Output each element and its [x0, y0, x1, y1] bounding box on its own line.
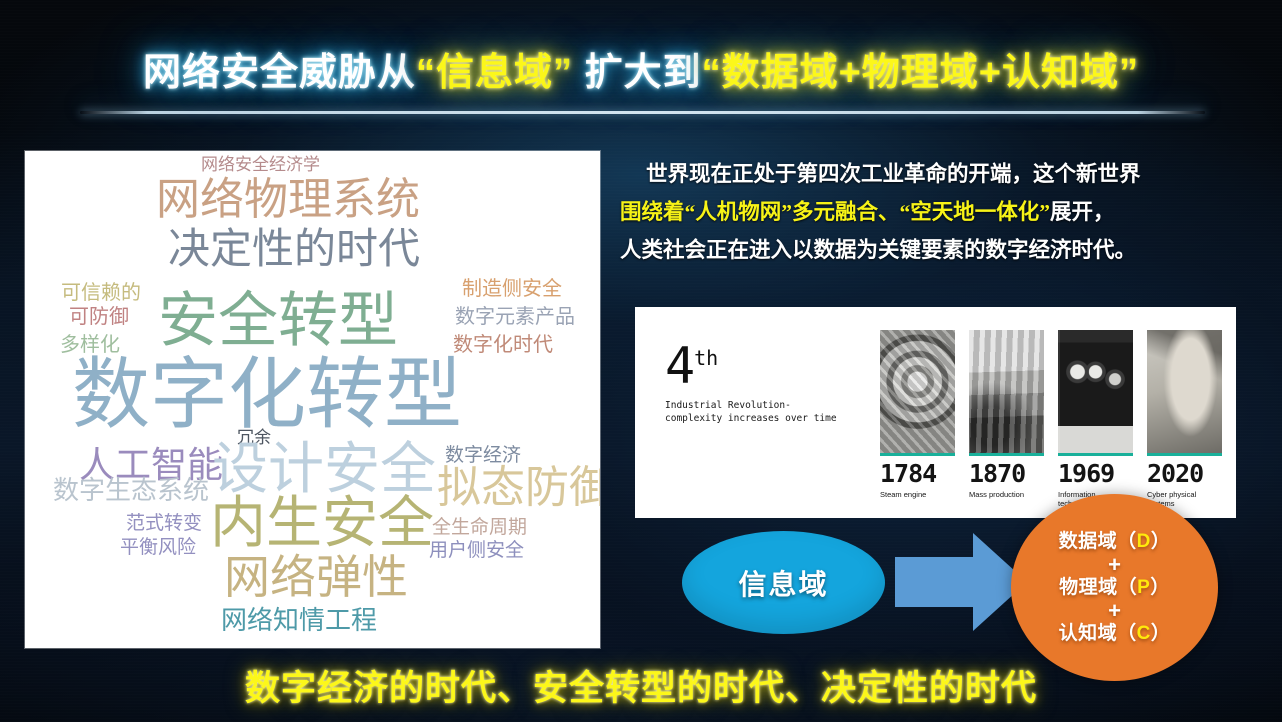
- word-cloud-term: 设计安全: [212, 442, 436, 498]
- logo-ordinal-suffix: th: [694, 346, 718, 370]
- paragraph-line-2-tail: 展开，: [1050, 200, 1115, 224]
- word-cloud-term: 数字化转型: [72, 356, 462, 434]
- domain-row-physical: 物理域（P）: [1059, 576, 1170, 600]
- word-cloud-term: 数字生态系统: [53, 477, 209, 503]
- mainframe-computer-photo: [1058, 330, 1133, 456]
- title-segment-2: “信息域”: [416, 52, 573, 94]
- word-cloud-term: 网络弹性: [224, 555, 408, 601]
- paragraph-line-2: 围绕着“人机物网”多元融合、“空天地一体化”展开，: [620, 193, 1275, 231]
- word-cloud-image: 网络安全经济学网络物理系统决定性的时代可信赖的制造侧安全可防御数字元素产品安全转…: [25, 151, 600, 648]
- humanoid-robot-photo: [1147, 330, 1222, 456]
- logo-caption-line-1: Industrial Revolution-: [665, 399, 880, 412]
- word-cloud-term: 网络物理系统: [156, 178, 420, 222]
- domain-key-c: C: [1137, 623, 1151, 644]
- logo-number: 4th: [665, 335, 880, 389]
- word-cloud-term: 数字化时代: [453, 335, 553, 355]
- revolution-item: 1784Steam engine: [880, 330, 955, 508]
- word-cloud-term: 网络知情工程: [221, 607, 377, 633]
- word-cloud-term: 可信赖的: [61, 283, 141, 303]
- word-cloud-term: 决定性的时代: [168, 229, 420, 271]
- information-domain-node[interactable]: 信息域: [682, 531, 885, 634]
- word-cloud-term: 安全转型: [158, 291, 398, 351]
- revolution-item: 2020Cyber physical systems: [1147, 330, 1222, 508]
- slide-canvas: 网络安全威胁从“信息域” 扩大到“数据域+物理域+认知域” 网络安全经济学网络物…: [0, 0, 1282, 722]
- revolution-year: 1784: [880, 461, 955, 487]
- steam-engine-photo: [880, 330, 955, 456]
- body-paragraph: 世界现在正处于第四次工业革命的开端，这个新世界 围绕着“人机物网”多元融合、“空…: [620, 155, 1275, 269]
- plus-sign-1: +: [1108, 555, 1121, 575]
- word-cloud-term: 拟态防御: [437, 466, 600, 510]
- dpc-domain-node[interactable]: 数据域（D） + 物理域（P） + 认知域（C）: [1011, 494, 1218, 681]
- title-segment-1: 网络安全威胁从: [143, 52, 416, 94]
- title-segment-4: “数据域+物理域+认知域”: [702, 52, 1139, 94]
- paragraph-line-1: 世界现在正处于第四次工业革命的开端，这个新世界: [620, 155, 1275, 193]
- word-cloud-term: 内生安全: [210, 496, 434, 552]
- word-cloud-term: 网络安全经济学: [201, 156, 320, 173]
- mass-production-photo: [969, 330, 1044, 456]
- title-divider: [80, 111, 1205, 114]
- revolution-item: 1870Mass production: [969, 330, 1044, 508]
- domain-row-data: 数据域（D）: [1059, 530, 1171, 554]
- page-title: 网络安全威胁从“信息域” 扩大到“数据域+物理域+认知域”: [0, 44, 1282, 102]
- domain-row-cognitive: 认知域（C）: [1059, 622, 1171, 646]
- domain-key-p: P: [1137, 577, 1150, 598]
- paragraph-highlight: 围绕着“人机物网”多元融合、“空天地一体化”: [620, 200, 1050, 224]
- logo-caption: Industrial Revolution- complexity increa…: [665, 399, 880, 425]
- domain-key-d: D: [1137, 531, 1151, 552]
- revolution-item: 1969Information technology: [1058, 330, 1133, 508]
- industrial-revolution-image: 4th Industrial Revolution- complexity in…: [635, 307, 1236, 518]
- revolution-label: Mass production: [969, 490, 1044, 499]
- word-cloud-term: 平衡风险: [120, 538, 196, 557]
- revolution-label: Steam engine: [880, 490, 955, 499]
- word-cloud-term: 全生命周期: [432, 518, 527, 537]
- flow-arrow-icon: [895, 533, 1027, 631]
- logo-caption-line-2: complexity increases over time: [665, 412, 880, 425]
- revolution-year: 2020: [1147, 461, 1222, 487]
- information-domain-label: 信息域: [738, 563, 828, 603]
- title-segment-3: 扩大到: [573, 52, 702, 94]
- paragraph-line-3: 人类社会正在进入以数据为关键要素的数字经济时代。: [620, 231, 1275, 269]
- revolution-timeline: 1784Steam engine1870Mass production1969I…: [880, 330, 1225, 508]
- fourth-revolution-logo: 4th Industrial Revolution- complexity in…: [665, 335, 880, 425]
- revolution-year: 1870: [969, 461, 1044, 487]
- plus-sign-2: +: [1108, 601, 1121, 621]
- word-cloud-term: 制造侧安全: [462, 279, 562, 299]
- word-cloud-term: 范式转变: [126, 514, 202, 533]
- revolution-year: 1969: [1058, 461, 1133, 487]
- word-cloud-term: 可防御: [69, 307, 129, 327]
- word-cloud-term: 用户侧安全: [429, 541, 524, 560]
- word-cloud-term: 数字元素产品: [455, 307, 575, 327]
